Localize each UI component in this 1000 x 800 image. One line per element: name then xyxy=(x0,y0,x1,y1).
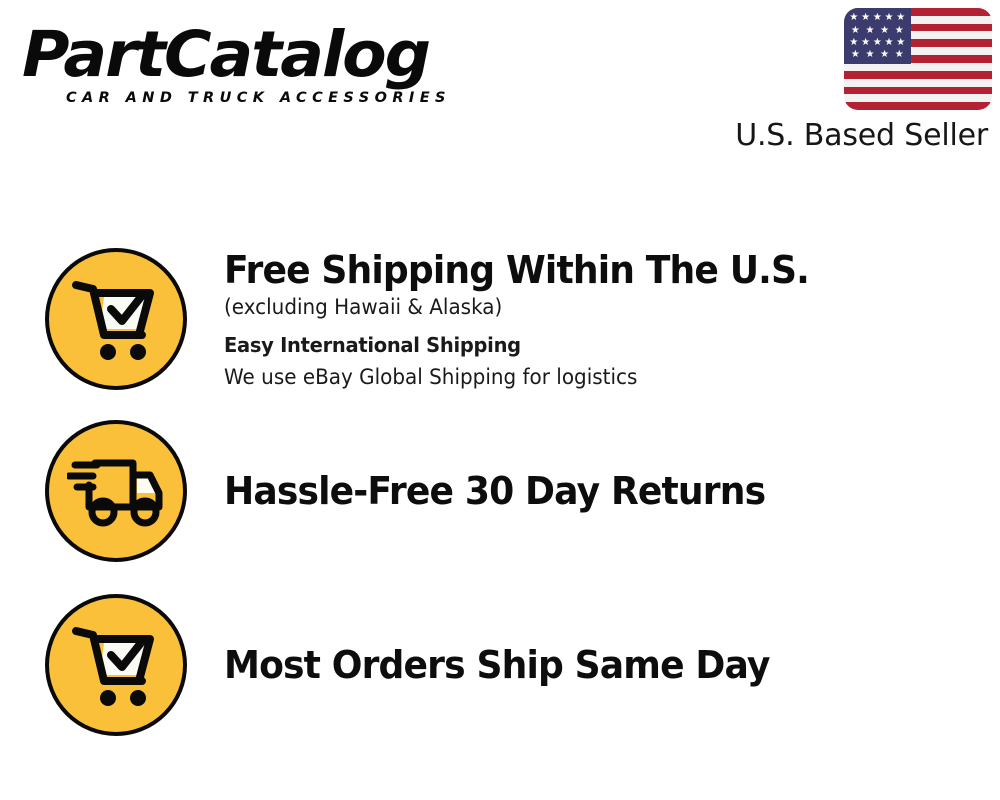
feature-sub-detail: We use eBay Global Shipping for logistic… xyxy=(224,362,961,392)
brand-wordmark: PartCatalog xyxy=(22,22,506,88)
feature-row-free-shipping: Free Shipping Within The U.S. (excluding… xyxy=(0,248,1000,392)
flag-canton: ★★★★★ ★★★★ ★★★★★ ★★★★ xyxy=(844,8,911,64)
feature-sub-heading: Easy International Shipping xyxy=(224,328,961,362)
feature-text-free-shipping: Free Shipping Within The U.S. (excluding… xyxy=(224,248,1000,392)
shopping-cart-check-icon xyxy=(45,248,187,390)
feature-headline: Free Shipping Within The U.S. xyxy=(224,248,961,292)
feature-headline: Hassle-Free 30 Day Returns xyxy=(224,469,961,513)
brand-logo[interactable]: PartCatalog CAR AND TRUCK ACCESSORIES xyxy=(22,22,492,117)
feature-text-returns: Hassle-Free 30 Day Returns xyxy=(224,469,1000,513)
page-header: PartCatalog CAR AND TRUCK ACCESSORIES ★★… xyxy=(0,0,1000,175)
feature-row-returns: Hassle-Free 30 Day Returns xyxy=(0,420,1000,562)
feature-row-same-day-ship: Most Orders Ship Same Day xyxy=(0,594,1000,736)
delivery-truck-icon xyxy=(45,420,187,562)
us-flag-icon: ★★★★★ ★★★★ ★★★★★ ★★★★ xyxy=(844,8,992,110)
shopping-cart-check-icon xyxy=(45,594,187,736)
us-based-seller-badge: ★★★★★ ★★★★ ★★★★★ ★★★★ U.S. Based Seller xyxy=(722,8,992,153)
brand-tagline: CAR AND TRUCK ACCESSORIES xyxy=(66,90,492,106)
feature-text-same-day-ship: Most Orders Ship Same Day xyxy=(224,643,1000,687)
seller-badge-label: U.S. Based Seller xyxy=(722,118,988,153)
feature-headline: Most Orders Ship Same Day xyxy=(224,643,961,687)
feature-sub-note: (excluding Hawaii & Alaska) xyxy=(224,292,961,322)
